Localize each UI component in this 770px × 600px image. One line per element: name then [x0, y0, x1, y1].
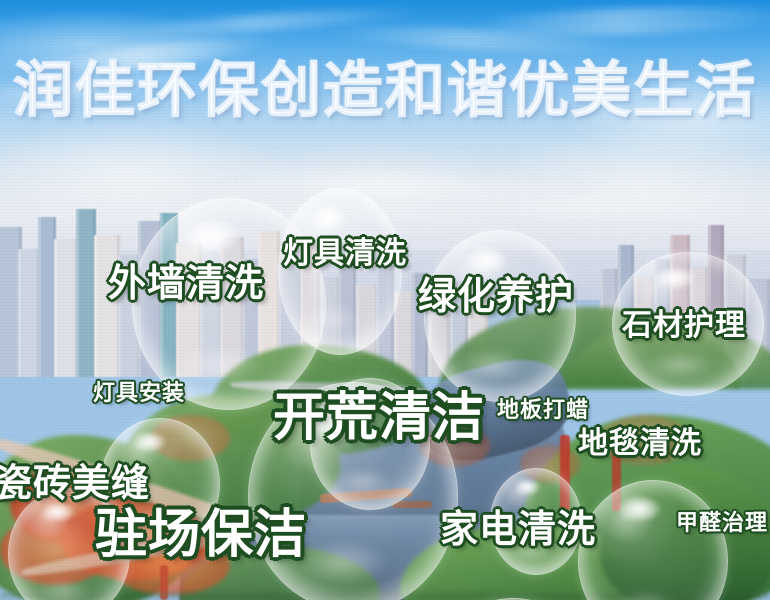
- blossom-tree: [150, 415, 230, 461]
- bottom-edge-strip: [0, 592, 770, 600]
- service-label-rough-cleaning[interactable]: 开荒清洁: [273, 375, 485, 450]
- page-title: 润佳环保创造和谐优美生活: [0, 60, 770, 123]
- service-label-lamp-installation[interactable]: 灯具安装: [93, 375, 185, 407]
- poster-canvas: 润佳环保创造和谐优美生活 外墙清洗灯具清洗绿化养护石材护理灯具安装开荒清洁地板打…: [0, 0, 770, 600]
- service-label-stone-care[interactable]: 石材护理: [622, 300, 746, 344]
- service-label-floor-waxing[interactable]: 地板打蜡: [497, 392, 589, 424]
- service-label-resident-cleaning[interactable]: 驻场保洁: [95, 492, 307, 567]
- service-label-lamp-cleaning[interactable]: 灯具清洗: [283, 228, 407, 272]
- service-label-appliance-cleaning[interactable]: 家电清洗: [440, 498, 596, 553]
- building: [18, 249, 40, 377]
- building: [76, 209, 96, 377]
- pier: [392, 501, 432, 508]
- service-label-wall-cleaning[interactable]: 外墙清洗: [108, 252, 264, 307]
- blossom-tree: [0, 515, 110, 585]
- service-label-carpet-cleaning[interactable]: 地毯清洗: [578, 418, 702, 462]
- blossom-tree: [520, 445, 580, 483]
- building: [54, 239, 78, 377]
- service-label-greening-care[interactable]: 绿化养护: [418, 265, 574, 320]
- service-label-formaldehyde[interactable]: 甲醛治理: [676, 505, 768, 537]
